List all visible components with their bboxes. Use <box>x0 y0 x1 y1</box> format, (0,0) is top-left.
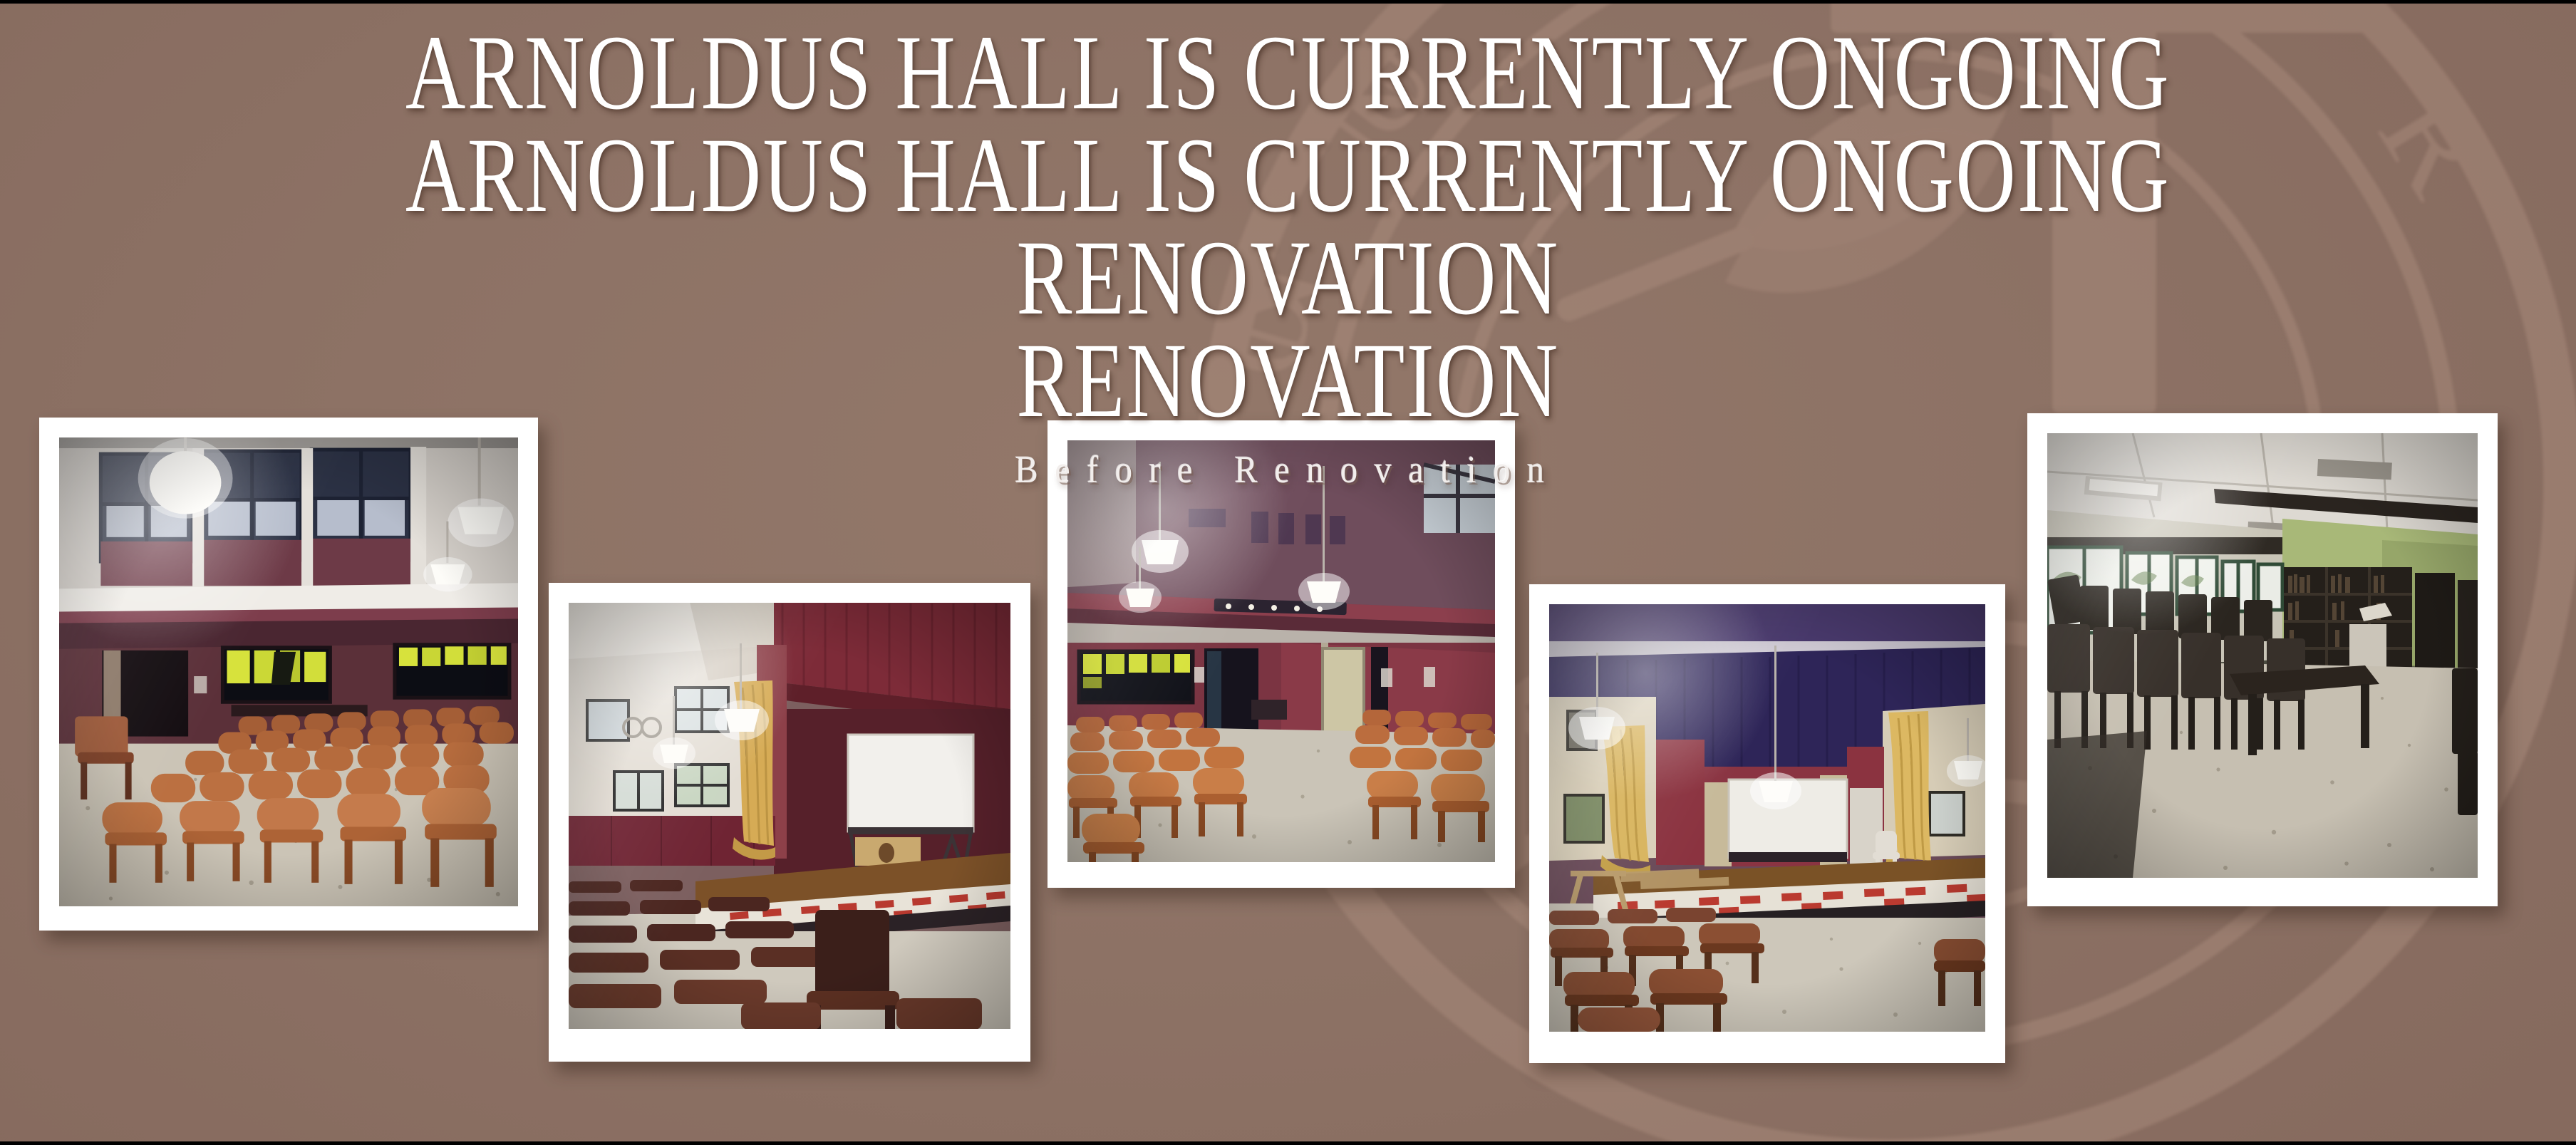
title-line-1-wrap: ARNOLDUS HALL IS CURRENTLY ONGOING ARNOL… <box>0 21 2576 227</box>
poster-canvas: A N U M I B E R O N A I S T <box>0 0 2576 1145</box>
page-title-line-1-inline: ARNOLDUS HALL IS CURRENTLY ONGOING <box>284 124 2293 227</box>
photo-frame-1 <box>39 418 538 931</box>
photo-3-hall-rear-aisle-view <box>1067 440 1495 862</box>
top-edge-bar <box>0 0 2576 4</box>
bottom-edge-bar <box>0 1141 2576 1145</box>
photo-2-stage-with-projector-screen <box>569 603 1010 1029</box>
photo-frame-2 <box>549 583 1030 1062</box>
photo-1-hall-seating-from-front <box>59 437 518 906</box>
title-line-2-wrap: RENOVATION RENOVATION <box>0 227 2576 432</box>
page-title-line-2: RENOVATION <box>284 227 2293 329</box>
photo-4-stage-wide-with-curtains <box>1549 604 1985 1032</box>
photo-5-library-storage-room <box>2047 433 2478 878</box>
page-title-line-1: ARNOLDUS HALL IS CURRENTLY ONGOING <box>284 21 2293 124</box>
headline-block: ARNOLDUS HALL IS CURRENTLY ONGOING ARNOL… <box>0 21 2576 492</box>
page-title-line-2-inline: RENOVATION <box>284 329 2293 432</box>
photo-frame-4 <box>1529 584 2005 1063</box>
page-subtitle: Before Renovation <box>129 447 2448 492</box>
